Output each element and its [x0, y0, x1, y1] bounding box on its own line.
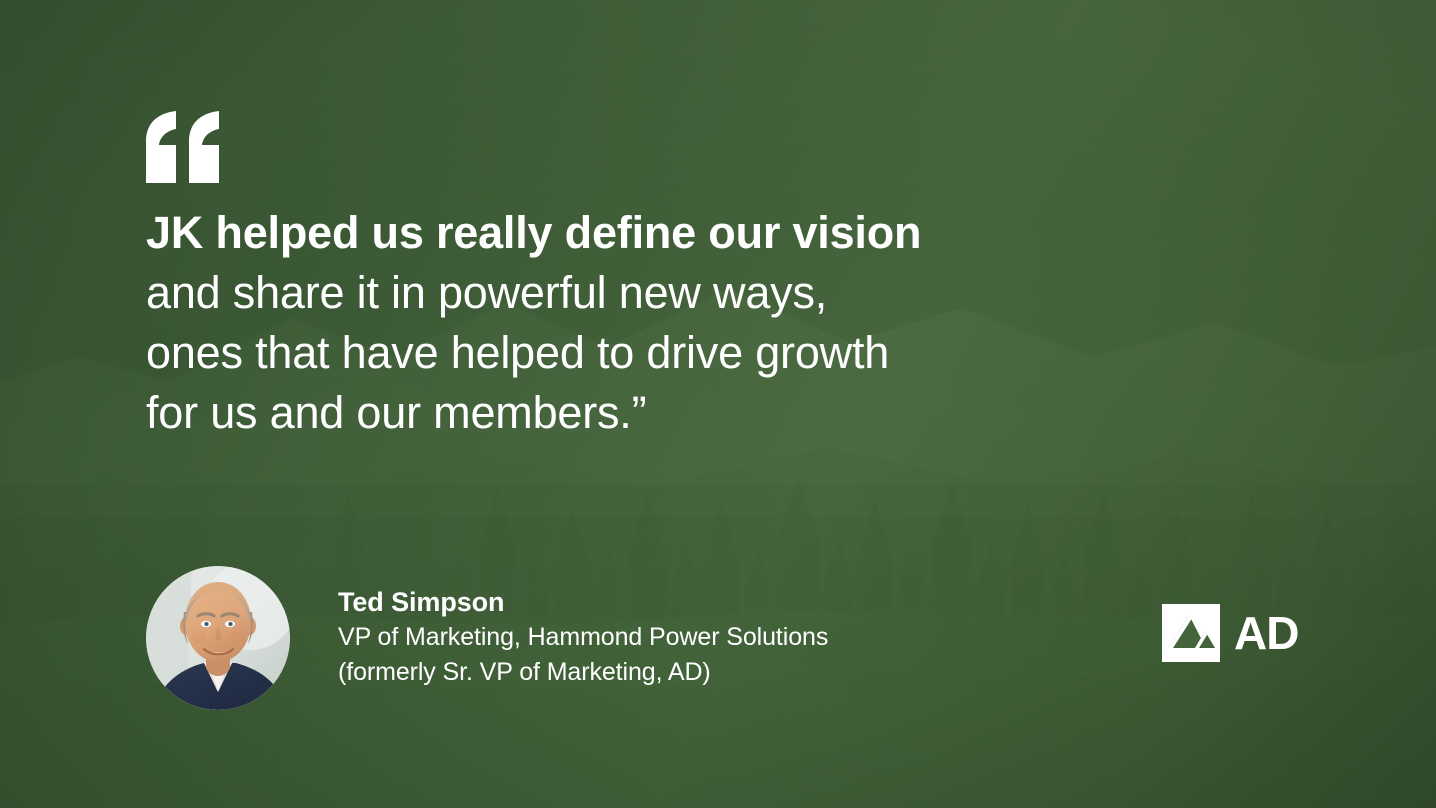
- quote-line-1: JK helped us really define our vision: [146, 203, 1126, 263]
- open-quote-icon: [146, 111, 222, 183]
- attribution-text: Ted Simpson VP of Marketing, Hammond Pow…: [338, 584, 828, 692]
- quote-line-3: ones that have helped to drive growth: [146, 323, 1126, 383]
- ad-mountain-mark-icon: [1162, 604, 1220, 662]
- quote-text: JK helped us really define our vision an…: [146, 203, 1126, 443]
- attribution: Ted Simpson VP of Marketing, Hammond Pow…: [146, 566, 828, 710]
- avatar: [146, 566, 290, 710]
- quote-line-2: and share it in powerful new ways,: [146, 263, 1126, 323]
- person-role-line-1: VP of Marketing, Hammond Power Solutions: [338, 620, 828, 655]
- ad-wordmark: AD: [1234, 610, 1298, 656]
- quote-line-4: for us and our members.”: [146, 383, 1126, 443]
- person-role-line-2: (formerly Sr. VP of Marketing, AD): [338, 655, 828, 690]
- ad-logo: AD: [1162, 604, 1298, 662]
- person-name: Ted Simpson: [338, 584, 828, 620]
- testimonial-card: JK helped us really define our vision an…: [0, 0, 1436, 808]
